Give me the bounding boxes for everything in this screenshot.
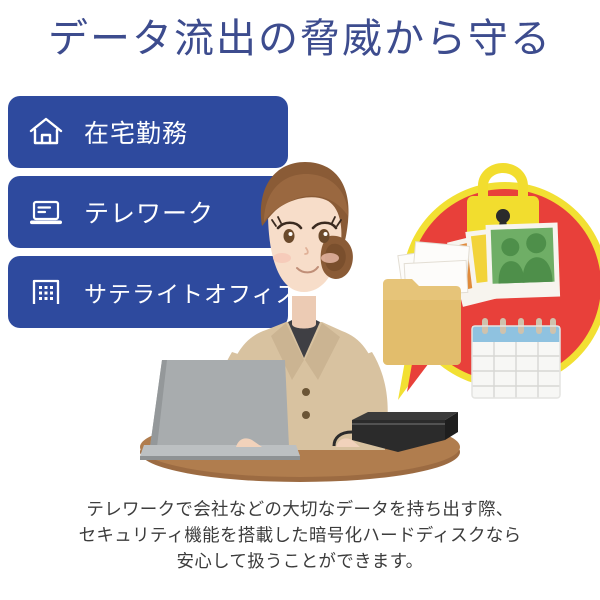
feature-button-label: サテライトオフィス (84, 275, 300, 309)
feature-button-telework[interactable]: テレワーク (8, 176, 288, 248)
feature-button-satellite-office[interactable]: サテライトオフィス (8, 256, 288, 328)
speech-bubble-shape (398, 178, 600, 404)
laptop (140, 360, 300, 460)
page-title: データ流出の脅威から守る (0, 14, 600, 64)
feature-button-label: テレワーク (84, 194, 214, 230)
caption-line-1: テレワークで会社などの大切なデータを持ち出す際、 (0, 496, 600, 522)
feature-button-label: 在宅勤務 (84, 114, 188, 150)
external-hard-drive (334, 412, 458, 452)
caption-line-3: 安心して扱うことができます。 (0, 548, 600, 574)
caption-line-2: セキュリティ機能を搭載した暗号化ハードディスクなら (0, 522, 600, 548)
laptop-icon (26, 192, 66, 232)
poster-canvas: データ流出の脅威から守る 在宅勤務 テレワーク サテライトオフィス (0, 0, 600, 600)
home-icon (26, 112, 66, 152)
folder-with-documents (383, 242, 469, 365)
office-building-icon (26, 272, 66, 312)
photo-stack (447, 222, 560, 306)
hands (236, 438, 360, 447)
feature-button-home-work[interactable]: 在宅勤務 (8, 96, 288, 168)
calendar-icon (472, 318, 560, 398)
caption-block: テレワークで会社などの大切なデータを持ち出す際、 セキュリティ機能を搭載した暗号… (0, 496, 600, 574)
padlock-icon (467, 163, 539, 248)
desk (140, 417, 460, 482)
